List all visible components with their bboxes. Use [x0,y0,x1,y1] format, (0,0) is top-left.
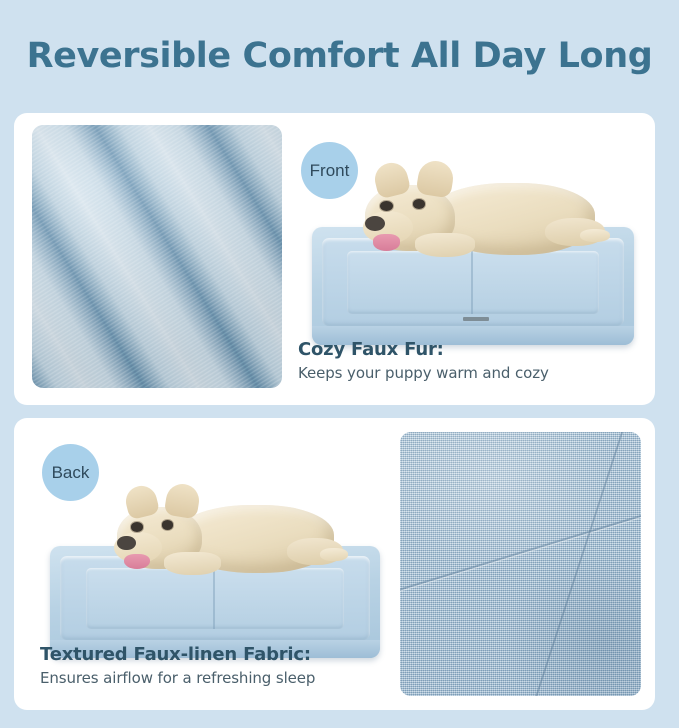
dog-front-leg [164,552,221,575]
dog-tongue [373,234,401,251]
caption-front-subtitle: Keeps your puppy warm and cozy [298,364,638,382]
french-bulldog-front [360,165,610,275]
dog-right-ear [415,158,455,198]
dog-right-eye [162,520,174,529]
mat-brand-tag [463,317,489,321]
linen-shading-overlay [400,432,641,696]
caption-front: Cozy Faux Fur: Keeps your puppy warm and… [298,339,638,382]
dog-nose [117,536,136,551]
dog-left-eye [131,522,143,531]
dog-back-paw [580,229,610,242]
fur-fiber-overlay [32,125,282,388]
dog-left-eye [380,201,393,211]
caption-front-title: Cozy Faux Fur: [298,339,638,360]
faux-linen-texture-image [400,432,641,696]
badge-back: Back [42,444,99,501]
faux-fur-texture-image [32,125,282,388]
page-title: Reversible Comfort All Day Long [0,36,679,76]
badge-front: Front [301,142,358,199]
dog-nose [365,216,385,231]
caption-back: Textured Faux-linen Fabric: Ensures airf… [40,644,385,687]
dog-tongue [124,554,150,570]
dog-front-leg [415,233,475,257]
dog-right-ear [164,481,202,519]
caption-back-subtitle: Ensures airflow for a refreshing sleep [40,669,385,687]
french-bulldog-back [112,488,348,592]
caption-back-title: Textured Faux-linen Fabric: [40,644,385,665]
dog-back-paw [320,548,348,560]
dog-right-eye [413,199,426,209]
